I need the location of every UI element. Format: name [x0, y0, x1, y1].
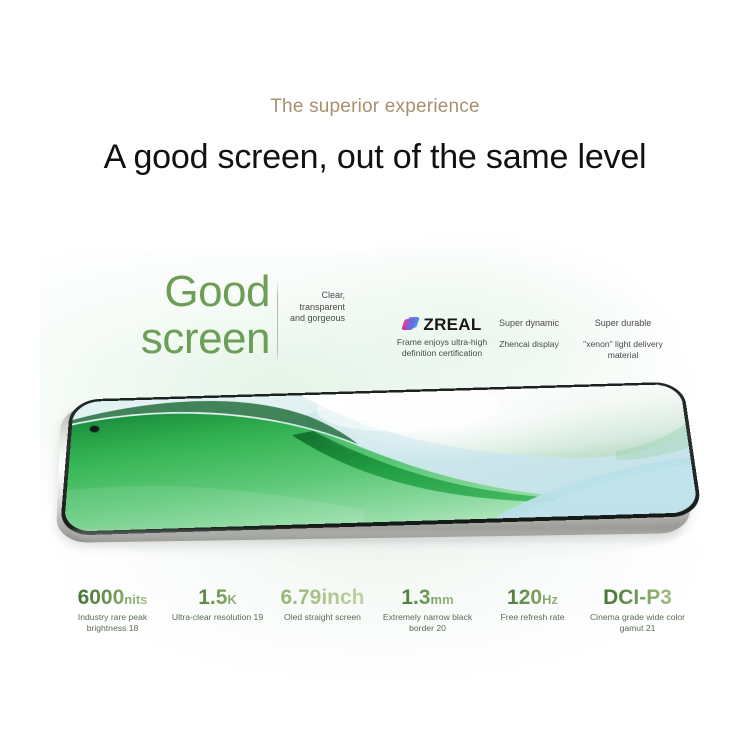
hero-band: Good screen Clear, transparent and gorge… [0, 262, 750, 382]
spec-size-number: 6.79inch [280, 586, 364, 609]
page-header: The superior experience A good screen, o… [0, 0, 750, 177]
spec-gamut-number: DCI-P3 [603, 586, 672, 609]
spec-size-caption: Oled straight screen [270, 612, 375, 623]
phone-device [54, 381, 694, 535]
spec-brightness-number: 6000 [78, 586, 125, 609]
spec-refresh-number: 120 [507, 586, 542, 609]
spec-item-size: 6.79inch Oled straight screen [270, 586, 375, 623]
spec-row: 6000nits Industry rare peak brightness 1… [60, 586, 690, 646]
vertical-divider [277, 280, 278, 364]
spec-refresh-value: 120Hz [480, 586, 585, 611]
spec-item-brightness: 6000nits Industry rare peak brightness 1… [60, 586, 165, 634]
spec-brightness-unit: nits [124, 592, 147, 607]
feature-1-title: Super dynamic [487, 317, 571, 329]
spec-item-resolution: 1.5K Ultra-clear resolution 19 [165, 586, 270, 623]
good-screen-line-2: screen [118, 315, 270, 362]
spec-brightness-value: 6000nits [60, 586, 165, 611]
phone-reflection [70, 530, 682, 564]
zreal-caption: Frame enjoys ultra-high definition certi… [388, 337, 496, 359]
good-screen-line-1: Good [164, 267, 270, 316]
spec-item-refresh: 120Hz Free refresh rate [480, 586, 585, 623]
wallpaper-artwork [64, 384, 699, 532]
spec-gamut-caption: Cinema grade wide color gamut 21 [585, 612, 690, 634]
spec-resolution-value: 1.5K [165, 586, 270, 611]
zreal-diamond-icon [402, 316, 419, 333]
zreal-logo-row: ZREAL [388, 314, 496, 334]
feature-item-1: Super dynamic Zhencai display [487, 317, 571, 350]
spec-resolution-caption: Ultra-clear resolution 19 [165, 612, 270, 623]
spec-item-border: 1.3mm Extremely narrow black border 20 [375, 586, 480, 634]
hero-descriptor: Clear, transparent and gorgeous [283, 290, 345, 325]
feature-2-title: Super durable [571, 317, 675, 329]
promo-page: The superior experience A good screen, o… [0, 0, 750, 750]
zreal-certification: ZREAL Frame enjoys ultra-high definition… [388, 314, 496, 359]
spec-gamut-value: DCI-P3 [585, 586, 690, 611]
spec-refresh-unit: Hz [542, 592, 558, 607]
spec-item-gamut: DCI-P3 Cinema grade wide color gamut 21 [585, 586, 690, 634]
page-eyebrow: The superior experience [0, 96, 750, 118]
phone-screen [64, 384, 699, 532]
feature-2-desc: "xenon" light delivery material [571, 339, 675, 361]
page-title: A good screen, out of the same level [0, 138, 750, 177]
zreal-brand-name: ZREAL [423, 316, 481, 333]
spec-refresh-caption: Free refresh rate [480, 612, 585, 623]
spec-border-number: 1.3 [401, 586, 430, 609]
feature-item-2: Super durable "xenon" light delivery mat… [571, 317, 675, 361]
spec-resolution-number: 1.5 [198, 586, 227, 609]
spec-size-value: 6.79inch [270, 586, 375, 611]
spec-border-caption: Extremely narrow black border 20 [375, 612, 480, 634]
spec-border-unit: mm [431, 592, 454, 607]
feature-1-desc: Zhencai display [487, 339, 571, 350]
spec-border-value: 1.3mm [375, 586, 480, 611]
product-image [46, 378, 706, 568]
spec-brightness-caption: Industry rare peak brightness 18 [60, 612, 165, 634]
good-screen-badge: Good screen [140, 268, 270, 362]
spec-resolution-unit: K [227, 592, 236, 607]
